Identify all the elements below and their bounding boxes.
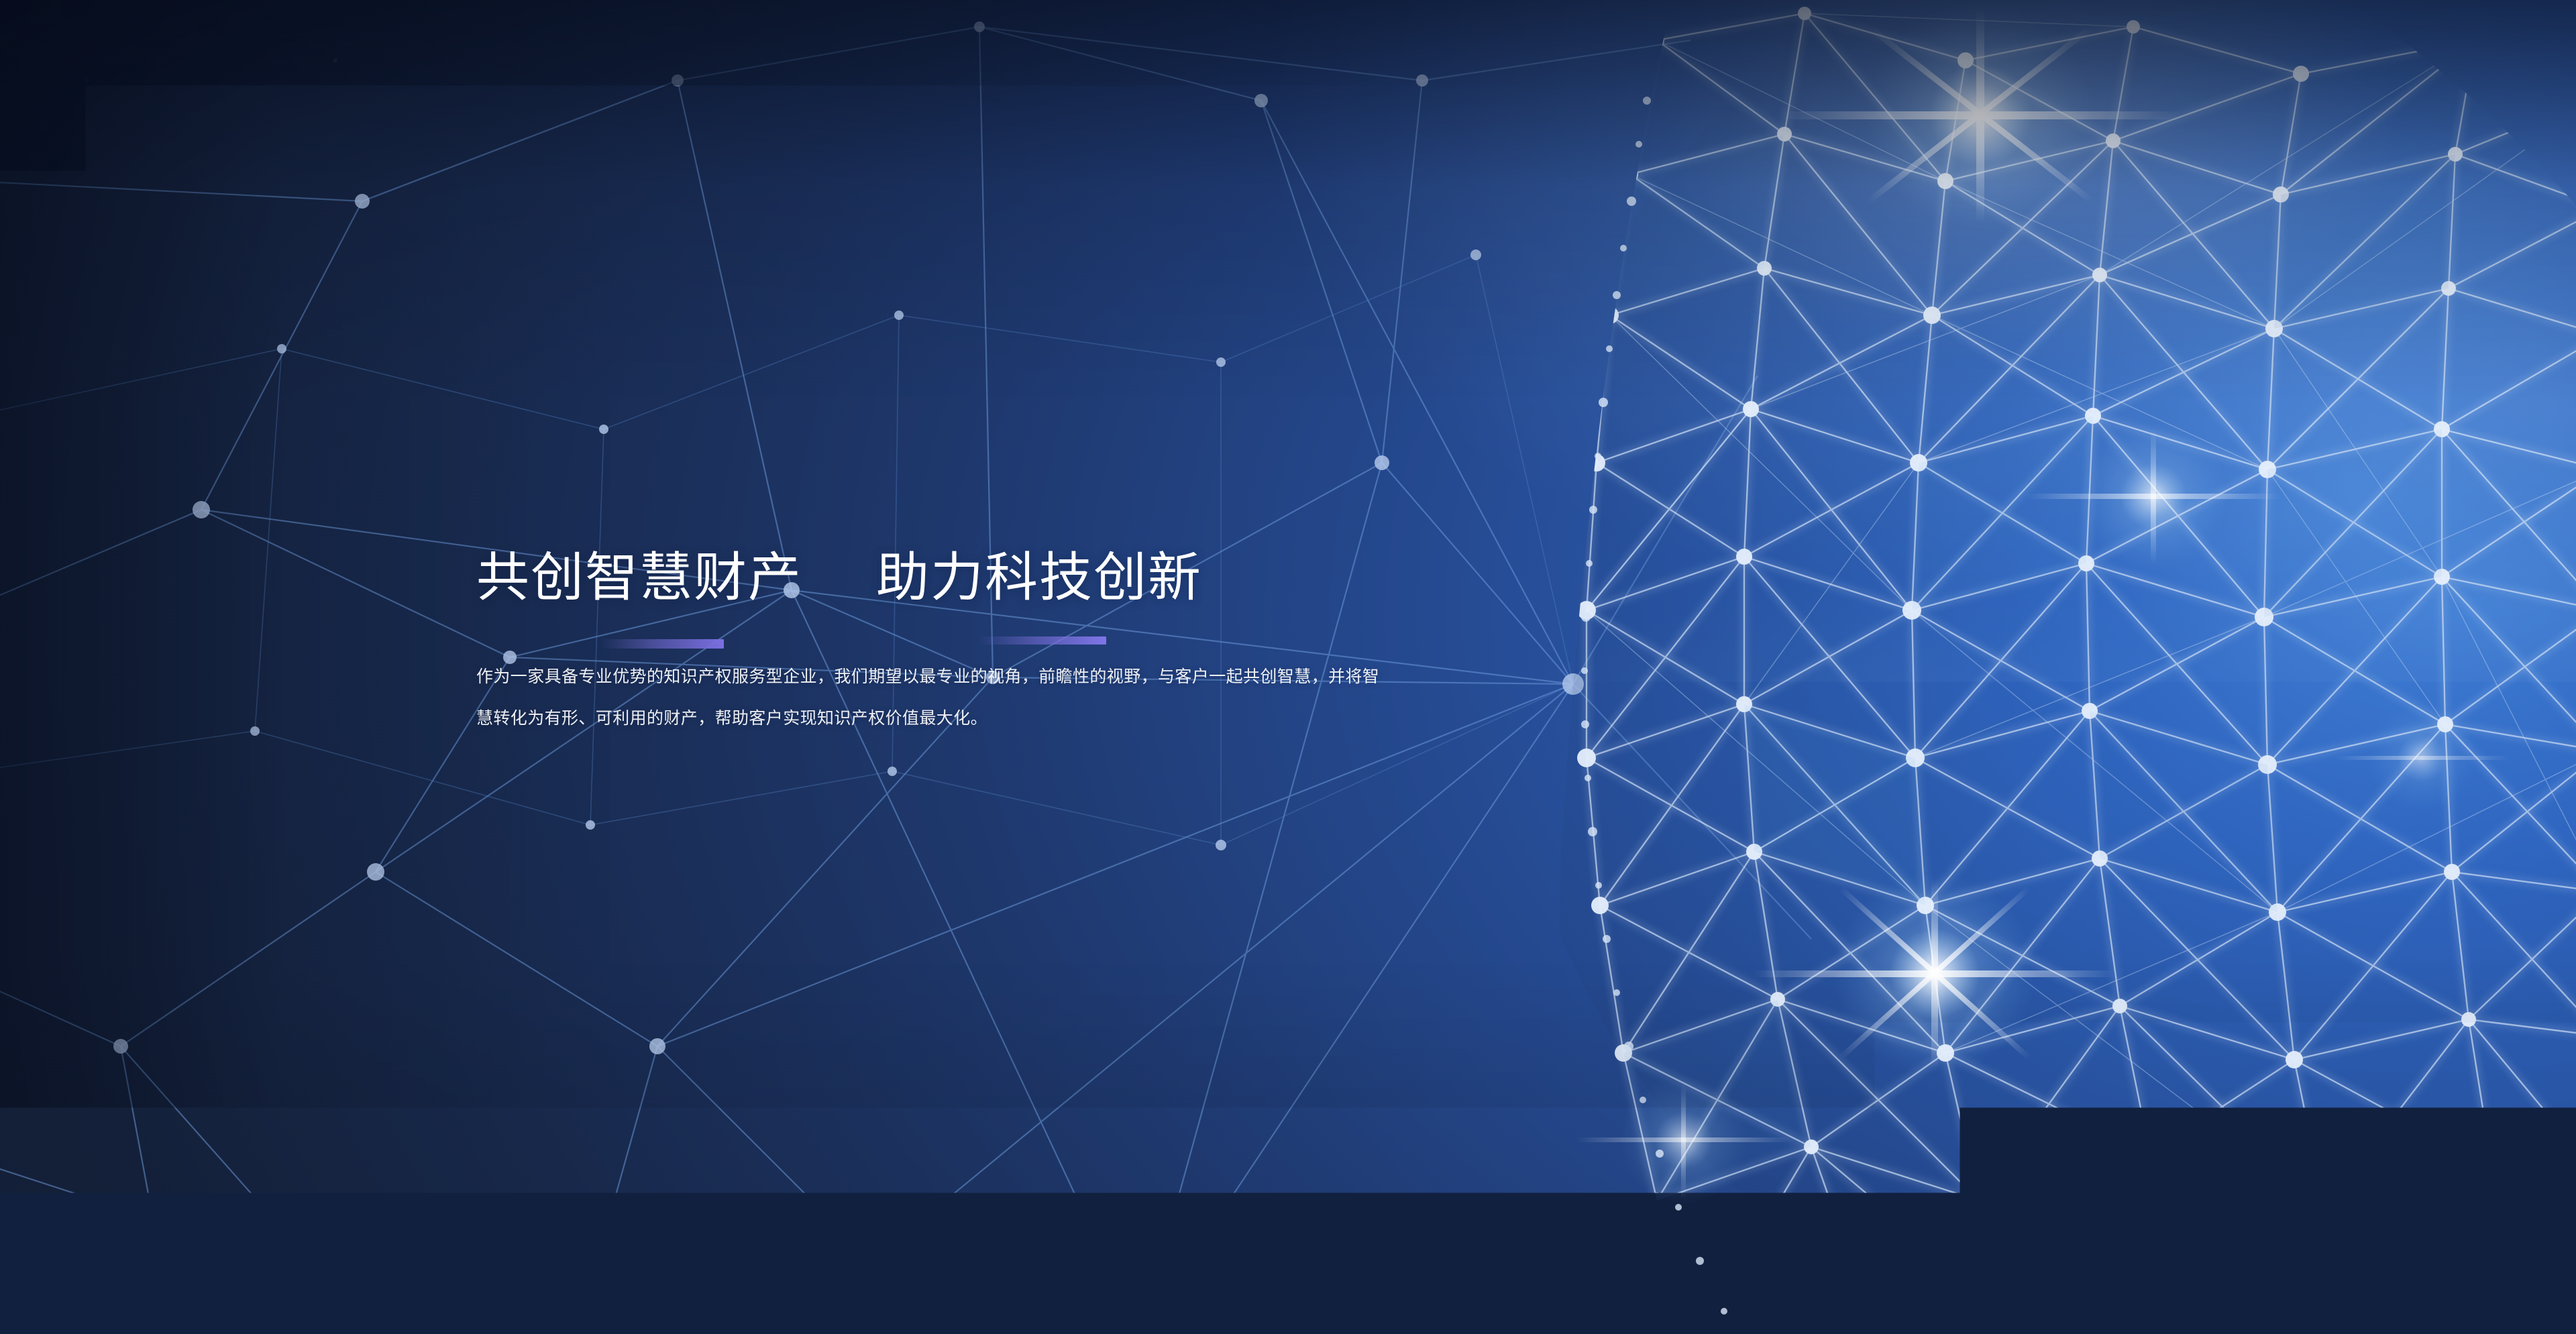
banner-hero: 共创智慧财产 助力科技创新 作为一家具备专业优势的知识产权服务型企业，我们期望以…: [0, 0, 2576, 1334]
banner-content: 共创智慧财产 助力科技创新 作为一家具备专业优势的知识产权服务型企业，我们期望以…: [476, 547, 1415, 739]
headline-part-1: 共创智慧财产: [476, 547, 802, 608]
headline-accent-rule-2: [977, 636, 1106, 645]
headline-row: 共创智慧财产 助力科技创新: [476, 547, 1415, 608]
banner-description: 作为一家具备专业优势的知识产权服务型企业，我们期望以最专业的视角，前瞻性的视野，…: [476, 656, 1387, 739]
headline-part-2: 助力科技创新: [876, 547, 1202, 608]
headline-text-primary: 共创智慧财产: [476, 547, 802, 608]
headline-accent-rule-1: [601, 639, 724, 649]
headline-text-secondary: 助力科技创新: [876, 547, 1202, 608]
